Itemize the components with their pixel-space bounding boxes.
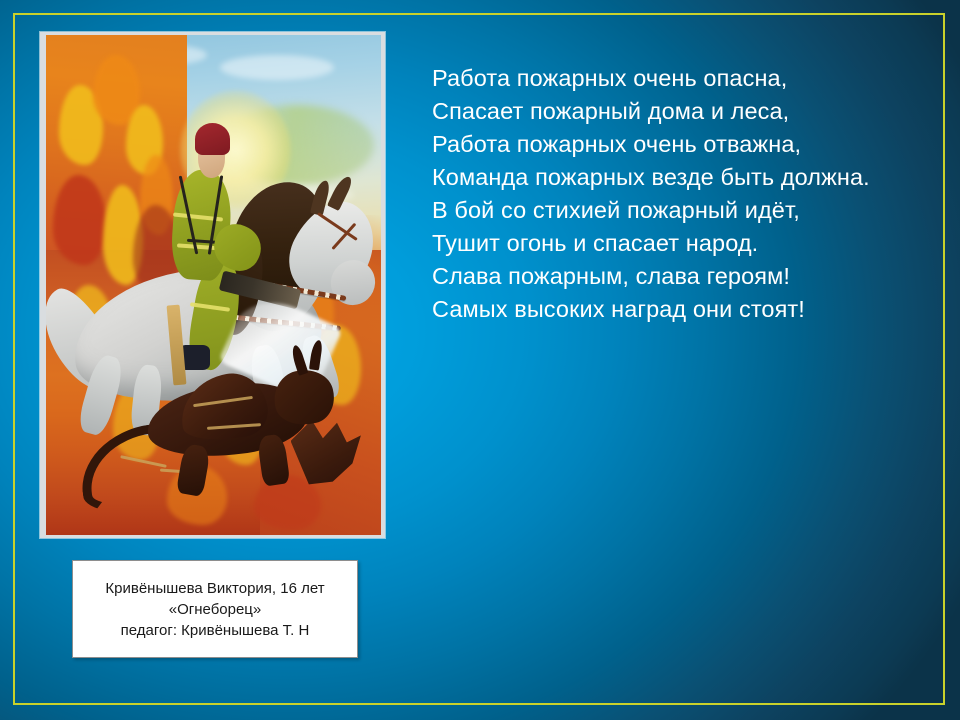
poem-line: Работа пожарных очень отважна, bbox=[432, 128, 932, 161]
poem-line: Тушит огонь и спасает народ. bbox=[432, 227, 932, 260]
artwork-image bbox=[40, 32, 385, 538]
poem-line: В бой со стихией пожарный идёт, bbox=[432, 194, 932, 227]
caption-teacher: педагог: Кривёнышева Т. Н bbox=[121, 620, 310, 641]
artwork-canvas bbox=[46, 35, 381, 535]
poem-line: Самых высоких наград они стоят! bbox=[432, 293, 932, 326]
poem-line: Спасает пожарный дома и леса, bbox=[432, 95, 932, 128]
poem-text-block: Работа пожарных очень опасна, Спасает по… bbox=[432, 62, 932, 326]
presentation-slide: Кривёнышева Виктория, 16 лет «Огнеборец»… bbox=[0, 0, 960, 720]
painting-rider-helmet bbox=[195, 123, 230, 156]
poem-line: Команда пожарных везде быть должна. bbox=[432, 161, 932, 194]
artwork-caption-box: Кривёнышева Виктория, 16 лет «Огнеборец»… bbox=[72, 560, 358, 658]
painting-cloud-1 bbox=[220, 55, 334, 80]
caption-title: «Огнеборец» bbox=[169, 599, 262, 620]
poem-line: Работа пожарных очень опасна, bbox=[432, 62, 932, 95]
caption-author: Кривёнышева Виктория, 16 лет bbox=[105, 578, 324, 599]
poem-line: Слава пожарным, слава героям! bbox=[432, 260, 932, 293]
